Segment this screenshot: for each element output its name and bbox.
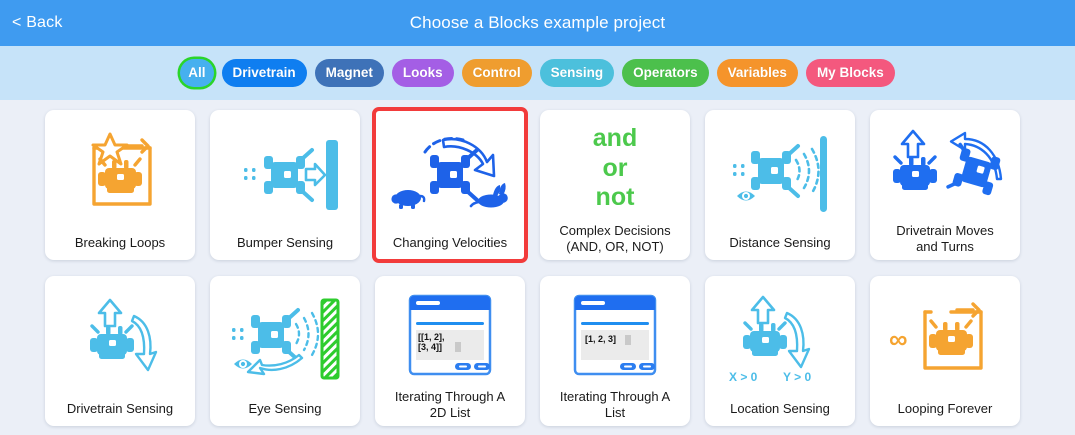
drivetrain-moves-icon	[870, 110, 1020, 223]
project-card-label: Eye Sensing	[210, 401, 360, 426]
filter-pill-drivetrain[interactable]: Drivetrain	[222, 59, 307, 88]
drivetrain-sensing-icon	[45, 276, 195, 401]
project-card-label: Location Sensing	[705, 401, 855, 426]
looping-forever-icon: ∞	[870, 276, 1020, 401]
project-card-label: Breaking Loops	[45, 235, 195, 260]
bumper-sensing-icon	[210, 110, 360, 235]
logic-word-or: or	[593, 154, 637, 184]
project-card-label: Distance Sensing	[705, 235, 855, 260]
project-card-label: Changing Velocities	[375, 235, 525, 260]
project-card-iterating-2d-list[interactable]: [[1, 2], [3, 4]] Iterating Through A 2D …	[375, 276, 525, 426]
app-header: < Back Choose a Blocks example project	[0, 0, 1075, 46]
example-project-grid: Breaking Loops	[0, 100, 1075, 426]
eye-sensing-icon	[210, 276, 360, 401]
page-title: Choose a Blocks example project	[0, 13, 1075, 33]
project-card-bumper-sensing[interactable]: Bumper Sensing	[210, 110, 360, 260]
logic-word-and: and	[593, 124, 637, 154]
project-card-looping-forever[interactable]: ∞	[870, 276, 1020, 426]
project-card-changing-velocities[interactable]: Changing Velocities	[375, 110, 525, 260]
filter-pill-my-blocks[interactable]: My Blocks	[806, 59, 895, 88]
project-card-label: Bumper Sensing	[210, 235, 360, 260]
filter-pill-operators[interactable]: Operators	[622, 59, 709, 88]
logic-word-not: not	[593, 183, 637, 213]
project-card-distance-sensing[interactable]: Distance Sensing	[705, 110, 855, 260]
rabbit-glyph	[471, 183, 508, 208]
window-list-icon: [[1, 2], [3, 4]]	[375, 276, 525, 389]
category-filter-bar: All Drivetrain Magnet Looks Control Sens…	[0, 46, 1075, 100]
distance-sensing-icon	[705, 110, 855, 235]
project-card-drivetrain-moves-and-turns[interactable]: Drivetrain Moves and Turns	[870, 110, 1020, 260]
back-button[interactable]: < Back	[12, 14, 63, 32]
filter-pill-control[interactable]: Control	[462, 59, 532, 88]
window-list-icon: [1, 2, 3]	[540, 276, 690, 389]
infinity-symbol: ∞	[889, 324, 908, 354]
filter-pill-sensing[interactable]: Sensing	[540, 59, 615, 88]
logic-words-icon: and or not	[540, 110, 690, 223]
location-sensing-icon: X > 0 Y > 0	[705, 276, 855, 401]
eye-glyph	[234, 360, 252, 369]
filter-pill-variables[interactable]: Variables	[717, 59, 798, 88]
project-card-label: Drivetrain Sensing	[45, 401, 195, 426]
project-card-location-sensing[interactable]: X > 0 Y > 0 Location Sensing	[705, 276, 855, 426]
filter-pill-looks[interactable]: Looks	[392, 59, 454, 88]
project-row-2: Drivetrain Sensing	[45, 276, 1030, 426]
project-card-label: Looping Forever	[870, 401, 1020, 426]
axis-label-y: Y > 0	[783, 370, 811, 384]
filter-pill-all[interactable]: All	[180, 59, 213, 88]
project-row-1: Breaking Loops	[45, 110, 1030, 260]
project-card-eye-sensing[interactable]: Eye Sensing	[210, 276, 360, 426]
eye-glyph	[737, 192, 755, 201]
breaking-loops-icon	[45, 110, 195, 235]
project-card-complex-decisions[interactable]: and or not Complex Decisions (AND, OR, N…	[540, 110, 690, 260]
project-card-label: Drivetrain Moves and Turns	[870, 223, 1020, 260]
code-line-2: [3, 4]]	[418, 342, 442, 352]
code-line-1: [[1, 2],	[418, 332, 445, 342]
filter-pill-magnet[interactable]: Magnet	[315, 59, 384, 88]
changing-velocities-icon	[375, 110, 525, 235]
code-line-1: [1, 2, 3]	[585, 334, 616, 344]
project-card-label: Iterating Through A List	[540, 389, 690, 426]
axis-label-x: X > 0	[729, 370, 758, 384]
project-card-label: Complex Decisions (AND, OR, NOT)	[540, 223, 690, 260]
project-card-iterating-list[interactable]: [1, 2, 3] Iterating Through A List	[540, 276, 690, 426]
project-card-drivetrain-sensing[interactable]: Drivetrain Sensing	[45, 276, 195, 426]
project-card-label: Iterating Through A 2D List	[375, 389, 525, 426]
project-card-breaking-loops[interactable]: Breaking Loops	[45, 110, 195, 260]
turtle-glyph	[391, 190, 424, 209]
